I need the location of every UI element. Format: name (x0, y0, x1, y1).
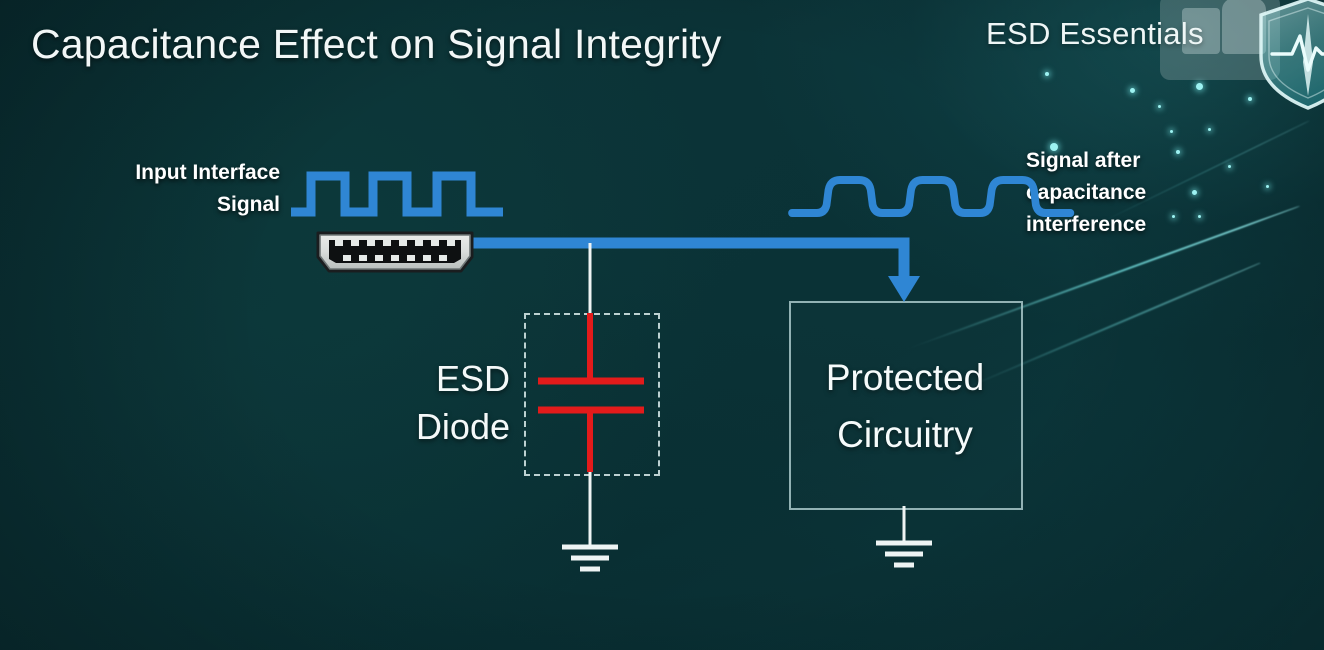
input-waveform-icon (291, 176, 503, 212)
ground-symbol-left-icon (562, 547, 618, 569)
slide-canvas: Capacitance Effect on Signal Integrity E… (0, 0, 1324, 650)
signal-trace (470, 243, 920, 302)
circuit-diagram (0, 0, 1324, 650)
capacitor-symbol-icon (538, 313, 644, 472)
hdmi-connector-icon (311, 229, 479, 275)
ground-symbol-right-icon (876, 506, 932, 565)
output-waveform-icon (792, 180, 1070, 213)
arrow-down-icon (888, 276, 920, 302)
